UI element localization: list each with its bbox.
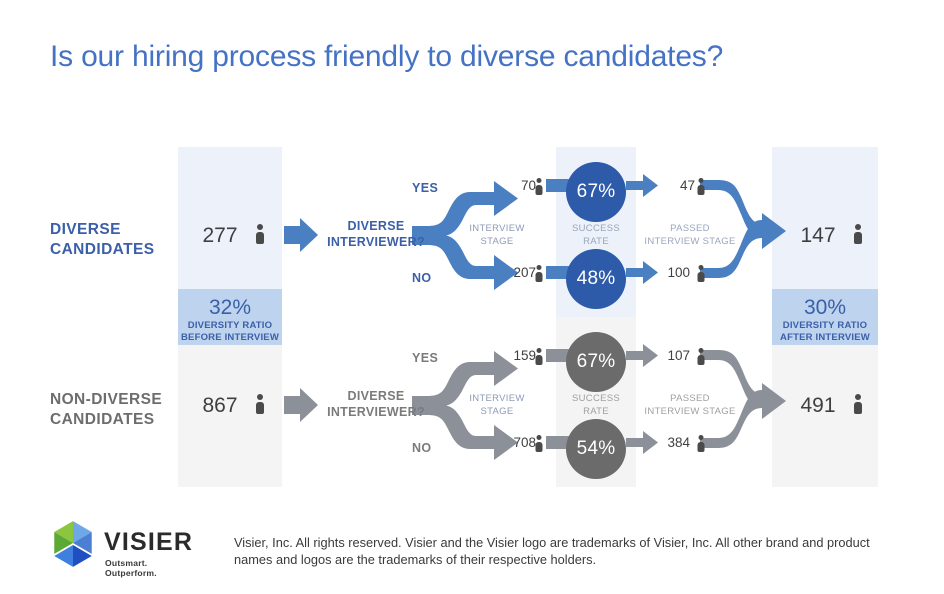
branch-label-non-diverse-no: NO [412,441,432,455]
caption-passed-diverse-line2: INTERVIEW STAGE [635,235,745,248]
ratio-after-caption-line1: DIVERSITY RATIO [773,320,877,332]
value-diverse-no-passed: 100 [650,265,690,280]
person-icon-diverse-no-passed [696,265,706,282]
person-icon-diverse-no-interview [534,265,544,282]
circle-diverse-no-success: 48% [566,249,626,309]
column-band-result-top [772,147,878,289]
arrow-nondiverse-start [284,388,318,422]
question-non-diverse-interviewer: DIVERSE INTERVIEWER? [316,388,436,420]
count-diverse-applicants: 277 [185,224,255,248]
visier-logo: VISIER Outsmart. Outperform. [47,518,197,580]
ratio-after-interview: 30% DIVERSITY RATIO AFTER INTERVIEW [773,296,877,344]
caption-passed-diverse-line1: PASSED [635,222,745,235]
value-non-diverse-yes-passed: 107 [650,348,690,363]
person-icon-diverse-result [852,224,864,244]
person-icon-non-diverse-applicants [254,394,266,414]
circle-diverse-yes-success: 67% [566,162,626,222]
caption-passed-diverse: PASSED INTERVIEW STAGE [635,222,745,248]
circle-non-diverse-yes-success: 67% [566,332,626,392]
caption-passed-non-diverse: PASSED INTERVIEW STAGE [635,392,745,418]
question-diverse-line2: INTERVIEWER? [316,234,436,250]
caption-interview-stage-diverse: INTERVIEW STAGE [452,222,542,248]
caption-passed-non-diverse-line1: PASSED [635,392,745,405]
caption-success-rate-non-diverse: SUCCESS RATE [556,392,636,418]
value-non-diverse-no-passed: 384 [650,435,690,450]
caption-success-rate-diverse-line2: RATE [556,235,636,248]
infographic-canvas: Is our hiring process friendly to divers… [0,0,944,594]
ratio-before-caption-line2: BEFORE INTERVIEW [178,332,282,344]
caption-interview-stage-diverse-line1: INTERVIEW [452,222,542,235]
caption-success-rate-diverse-line1: SUCCESS [556,222,636,235]
value-diverse-yes-interview: 70 [496,178,536,193]
value-diverse-no-interview: 207 [496,265,536,280]
person-icon-non-diverse-no-passed [696,435,706,452]
ratio-after-caption-line2: AFTER INTERVIEW [773,332,877,344]
person-icon-non-diverse-no-interview [534,435,544,452]
footer-legal-text: Visier, Inc. All rights reserved. Visier… [234,534,884,568]
caption-interview-stage-non-diverse: INTERVIEW STAGE [452,392,542,418]
caption-passed-non-diverse-line2: INTERVIEW STAGE [635,405,745,418]
ratio-before-value: 32% [178,296,282,320]
ratio-before-interview: 32% DIVERSITY RATIO BEFORE INTERVIEW [178,296,282,344]
page-title: Is our hiring process friendly to divers… [50,40,870,74]
count-diverse-result: 147 [783,224,853,248]
visier-hexagon-icon [47,518,99,570]
circle-non-diverse-no-success: 54% [566,419,626,479]
person-icon-non-diverse-result [852,394,864,414]
count-non-diverse-applicants: 867 [185,394,255,418]
branch-label-diverse-yes: YES [412,181,438,195]
person-icon-diverse-yes-interview [534,178,544,195]
person-icon-non-diverse-yes-passed [696,348,706,365]
caption-success-rate-non-diverse-line1: SUCCESS [556,392,636,405]
arrow-diverse-start [284,218,318,252]
caption-interview-stage-non-diverse-line2: STAGE [452,405,542,418]
visier-tagline: Outsmart. Outperform. [105,558,197,578]
caption-interview-stage-diverse-line2: STAGE [452,235,542,248]
value-non-diverse-yes-interview: 159 [496,348,536,363]
value-diverse-yes-passed: 47 [655,178,695,193]
question-non-diverse-line2: INTERVIEWER? [316,404,436,420]
caption-success-rate-diverse: SUCCESS RATE [556,222,636,248]
visier-wordmark: VISIER [104,528,193,557]
question-non-diverse-line1: DIVERSE [316,388,436,404]
ratio-after-value: 30% [773,296,877,320]
person-icon-diverse-yes-passed [696,178,706,195]
question-diverse-line1: DIVERSE [316,218,436,234]
column-band-applicants-top [178,147,282,289]
branch-label-non-diverse-yes: YES [412,351,438,365]
caption-interview-stage-non-diverse-line1: INTERVIEW [452,392,542,405]
person-icon-non-diverse-yes-interview [534,348,544,365]
ratio-before-caption-line1: DIVERSITY RATIO [178,320,282,332]
branch-label-diverse-no: NO [412,271,432,285]
value-non-diverse-no-interview: 708 [496,435,536,450]
question-diverse-interviewer: DIVERSE INTERVIEWER? [316,218,436,250]
count-non-diverse-result: 491 [783,394,853,418]
caption-success-rate-non-diverse-line2: RATE [556,405,636,418]
person-icon-diverse-applicants [254,224,266,244]
